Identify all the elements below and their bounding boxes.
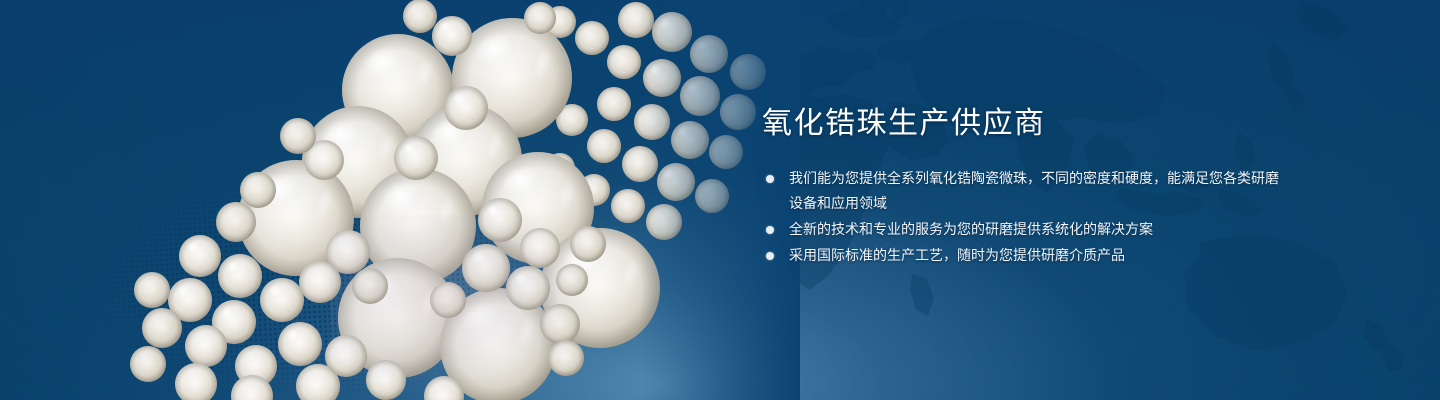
list-item-text: 全新的技术和专业的服务为您的研磨提供系统化的解决方案 [789,217,1282,242]
bullet-dot-icon [766,252,774,260]
bullet-dot-icon [766,175,774,183]
list-item: 全新的技术和专业的服务为您的研磨提供系统化的解决方案 [762,217,1282,242]
hero-banner: 氧化锆珠生产供应商 我们能为您提供全系列氧化锆陶瓷微珠，不同的密度和硬度，能满足… [0,0,1440,400]
list-item-text: 采用国际标准的生产工艺，随时为您提供研磨介质产品 [789,243,1282,268]
bullet-dot-icon [766,226,774,234]
list-item-text: 我们能为您提供全系列氧化锆陶瓷微珠，不同的密度和硬度，能满足您各类研磨设备和应用… [789,166,1282,216]
feature-list: 我们能为您提供全系列氧化锆陶瓷微珠，不同的密度和硬度，能满足您各类研磨设备和应用… [762,166,1282,268]
banner-content: 氧化锆珠生产供应商 我们能为您提供全系列氧化锆陶瓷微珠，不同的密度和硬度，能满足… [762,104,1282,269]
list-item: 我们能为您提供全系列氧化锆陶瓷微珠，不同的密度和硬度，能满足您各类研磨设备和应用… [762,166,1282,216]
list-item: 采用国际标准的生产工艺，随时为您提供研磨介质产品 [762,243,1282,268]
banner-headline: 氧化锆珠生产供应商 [762,104,1282,144]
